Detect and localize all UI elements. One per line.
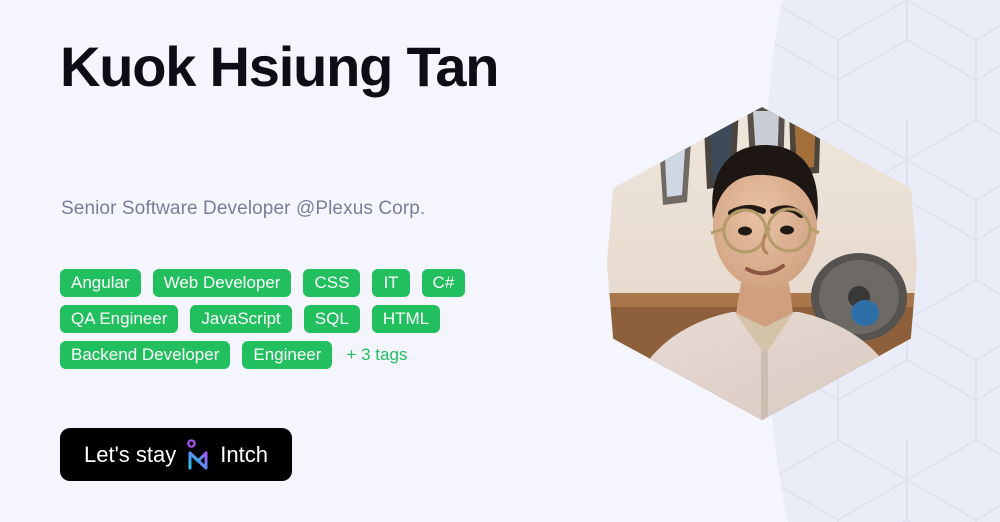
tag-chip[interactable]: QA Engineer xyxy=(60,305,178,333)
profile-headline: Senior Software Developer @Plexus Corp. xyxy=(61,198,425,220)
tag-chip[interactable]: JavaScript xyxy=(190,305,291,333)
tag-chip[interactable]: CSS xyxy=(303,269,360,297)
profile-content: Kuok Hsiung Tan Senior Software Develope… xyxy=(60,0,620,522)
more-tags-label[interactable]: + 3 tags xyxy=(346,345,407,365)
cta-brand-label: Intch xyxy=(220,442,268,468)
tag-chip[interactable]: HTML xyxy=(372,305,440,333)
tag-list: AngularWeb DeveloperCSSITC#QA EngineerJa… xyxy=(60,269,580,369)
tag-chip[interactable]: Backend Developer xyxy=(60,341,230,369)
tag-chip[interactable]: IT xyxy=(372,269,409,297)
tag-chip[interactable]: SQL xyxy=(304,305,360,333)
profile-card: Kuok Hsiung Tan Senior Software Develope… xyxy=(0,0,1000,522)
tag-chip[interactable]: Web Developer xyxy=(153,269,292,297)
intch-n-logo-icon xyxy=(185,439,211,471)
cta-label-before: Let's stay xyxy=(84,442,176,468)
tag-chip[interactable]: C# xyxy=(422,269,466,297)
tag-chip[interactable]: Angular xyxy=(60,269,141,297)
page-title: Kuok Hsiung Tan xyxy=(60,38,530,95)
tag-chip[interactable]: Engineer xyxy=(242,341,332,369)
lets-stay-intch-button[interactable]: Let's stay Intch xyxy=(60,428,292,481)
